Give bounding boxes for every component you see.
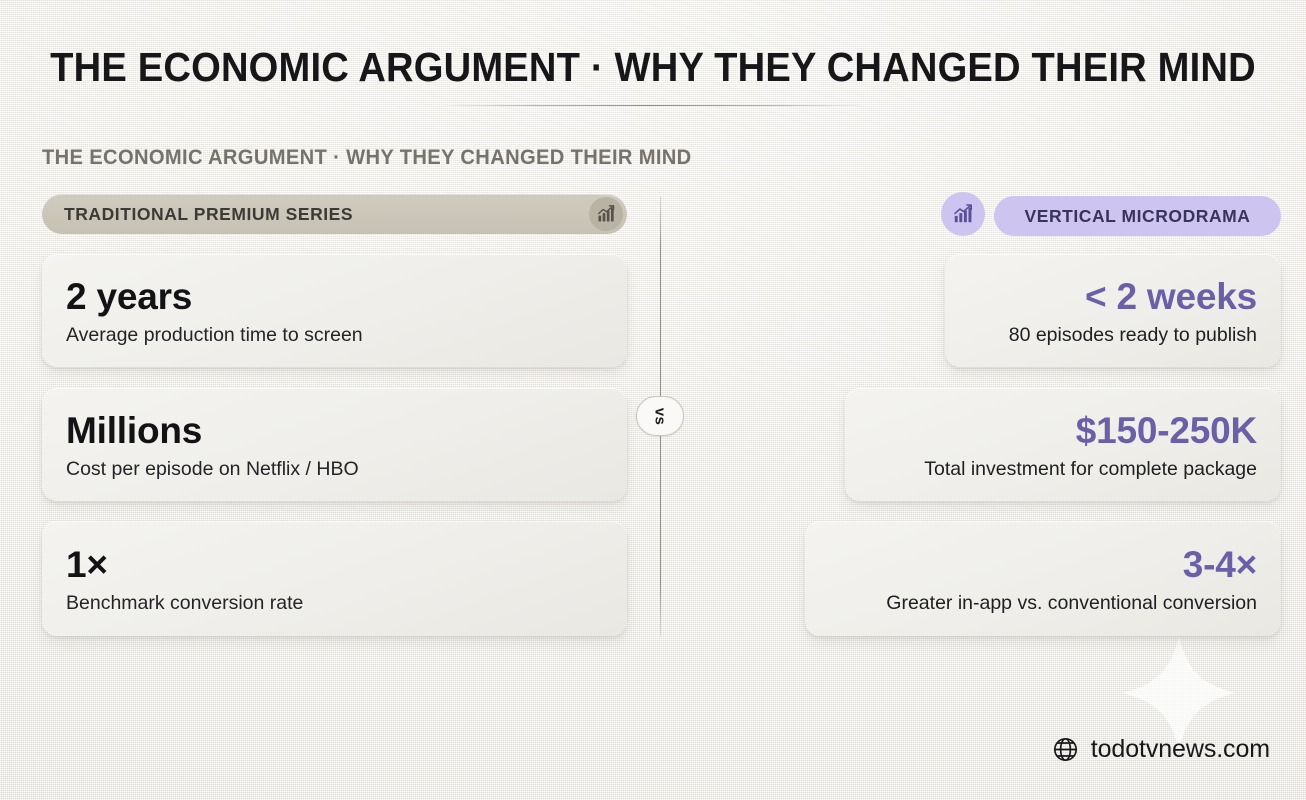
metric-description: Average production time to screen [66,322,603,349]
metric-description: 80 episodes ready to publish [1009,322,1257,349]
vs-badge-label: vs [652,407,669,425]
metric-value: $150-250K [1076,409,1257,453]
metric-value: 3-4× [1183,543,1257,587]
metric-description: Greater in-app vs. conventional conversi… [886,590,1257,617]
metric-value: 1× [66,543,603,587]
metric-card[interactable]: $150-250K Total investment for complete … [845,388,1281,501]
slide: THE ECONOMIC ARGUMENT · WHY THEY CHANGED… [0,0,1306,800]
title-divider-rule [438,105,868,106]
metric-card[interactable]: 2 years Average production time to scree… [42,254,627,367]
footer-brand: todotvnews.com [1052,734,1270,764]
chart-growth-icon [941,192,985,236]
metric-card[interactable]: 3-4× Greater in-app vs. conventional con… [805,521,1281,636]
page-title: THE ECONOMIC ARGUMENT · WHY THEY CHANGED… [46,42,1261,92]
metric-description: Total investment for complete package [924,456,1257,483]
vs-badge: vs [636,396,684,436]
globe-icon [1052,736,1079,763]
column-header-microdrama[interactable]: VERTICAL MICRODRAMA [994,196,1281,236]
metric-card[interactable]: Millions Cost per episode on Netflix / H… [42,388,627,501]
column-header-traditional-label: TRADITIONAL PREMIUM SERIES [64,204,353,225]
metric-description: Benchmark conversion rate [66,590,603,617]
chart-growth-icon [589,197,623,231]
metric-card[interactable]: < 2 weeks 80 episodes ready to publish [945,254,1281,367]
metric-value: < 2 weeks [1085,275,1257,319]
metric-value: Millions [66,409,603,453]
column-header-microdrama-label: VERTICAL MICRODRAMA [1025,206,1251,227]
footer-site-label: todotvnews.com [1091,734,1270,764]
column-header-traditional[interactable]: TRADITIONAL PREMIUM SERIES [42,194,627,234]
metric-value: 2 years [66,275,603,319]
section-eyebrow: THE ECONOMIC ARGUMENT · WHY THEY CHANGED… [42,144,692,172]
metric-description: Cost per episode on Netflix / HBO [66,456,603,483]
metric-card[interactable]: 1× Benchmark conversion rate [42,521,627,636]
